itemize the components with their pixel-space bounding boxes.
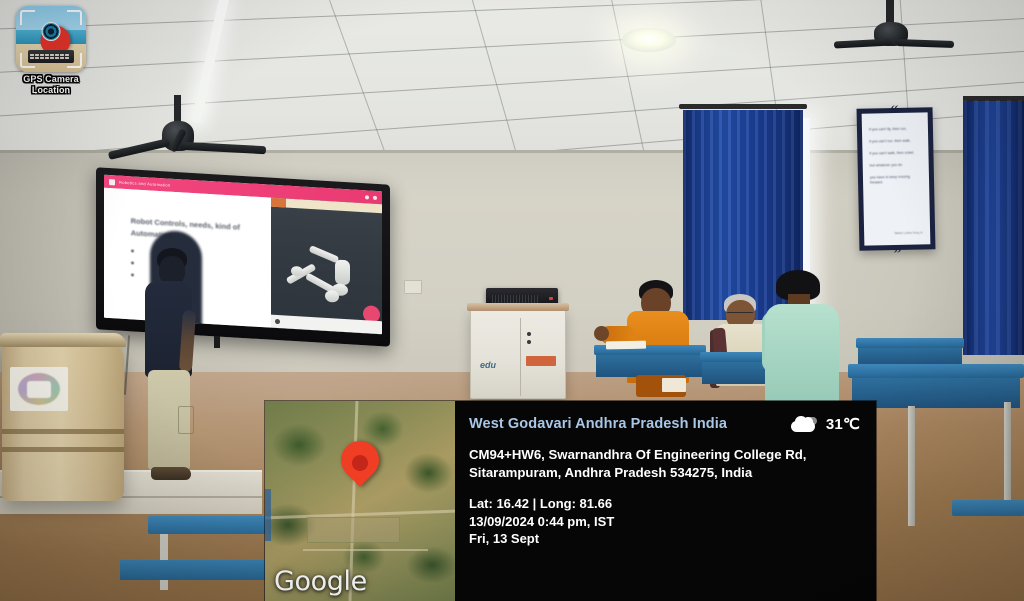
map-thumbnail[interactable]: Google [265, 401, 455, 601]
podium-band [2, 447, 124, 452]
amp-grill [492, 295, 538, 303]
quote-open-icon: “ [890, 104, 898, 120]
seated-man-mint-body [765, 304, 839, 410]
desk-skirt [596, 355, 704, 377]
robotic-arm-image [282, 235, 371, 316]
gps-info-panel: West Godavari Andhra Pradesh India 31℃ C… [455, 401, 876, 601]
google-watermark: Google [274, 567, 367, 597]
podium-top [0, 333, 126, 347]
quote-line: if you can't walk, then crawl, [869, 150, 921, 156]
gps-camera-app-logo[interactable]: GPS Camera Location [12, 6, 90, 98]
weather-block: 31℃ [791, 415, 860, 433]
presenter-standing [139, 248, 201, 498]
desk-leg [908, 406, 915, 526]
app-menu-icon [109, 179, 115, 185]
coordinates-line: Lat: 16.42 | Long: 81.66 [469, 495, 860, 513]
video-panel [271, 198, 382, 335]
logo-camera-lens-icon [42, 22, 61, 41]
eyeglasses-icon [727, 312, 753, 318]
map-water [265, 489, 271, 541]
bench-left [148, 516, 278, 534]
bullet-dot [131, 273, 134, 276]
poster-quote-lines: If you can't fly, then run, if you can't… [869, 126, 922, 185]
paper-sheet [606, 341, 646, 350]
quote-close-icon: “ [893, 238, 901, 254]
seated-man-orange-hand [594, 326, 609, 341]
curtain-rod [963, 96, 1024, 101]
address-line-1: CM94+HW6, Swarnandhra Of Engineering Col… [469, 446, 860, 464]
presenter-pants [148, 370, 190, 470]
screenshot-root: Robotics and Automation Robot Controls, … [0, 0, 1024, 601]
viewfinder-bracket-icon [67, 53, 82, 68]
emblem-ring [18, 373, 60, 405]
desk-leg [1004, 402, 1011, 510]
desk-skirt [852, 378, 1020, 408]
ceiling-fan-right [838, 0, 958, 60]
quote-attribution: Martin Luther King Jr. [895, 230, 924, 235]
volume-icon [365, 195, 369, 199]
cabinet-door-split [520, 318, 521, 396]
map-road [303, 549, 428, 551]
cloud-icon [791, 417, 818, 432]
gps-meta-block: Lat: 16.42 | Long: 81.66 13/09/2024 0:44… [469, 495, 860, 548]
weekday-line: Fri, 13 Sept [469, 530, 860, 548]
presentation-header-title: Robotics and Automation [119, 180, 170, 188]
gps-logo-caption: GPS Camera Location [12, 74, 90, 96]
quote-line: but whatever you do [870, 162, 922, 168]
podium [2, 341, 124, 501]
viewfinder-bracket-icon [67, 10, 82, 25]
round-ceiling-light [622, 28, 676, 52]
bullet-dot [131, 261, 134, 264]
bullet-dot [131, 249, 134, 252]
gps-logo-caption-line2: Location [12, 85, 90, 96]
cabinet-knob [527, 340, 531, 344]
desk [856, 338, 964, 348]
gps-camera-pin-icon [16, 6, 86, 72]
more-options-icon [373, 195, 377, 199]
location-title: West Godavari Andhra Pradesh India [469, 416, 727, 432]
ceiling-fan-left [130, 95, 280, 165]
desk-front-right [848, 364, 1024, 378]
address-line-2: Sitarampuram, Andhra Pradesh 534275, Ind… [469, 464, 860, 482]
gps-header-row: West Godavari Andhra Pradesh India 31℃ [469, 415, 860, 433]
address-block: CM94+HW6, Swarnandhra Of Engineering Col… [469, 446, 860, 481]
slide-bullets [131, 249, 134, 285]
tv-stand [214, 336, 220, 348]
cargo-pocket [178, 406, 194, 434]
window-curtain-right [963, 100, 1024, 355]
cabinet-brand-label: edu [480, 360, 496, 370]
map-pin-center [352, 455, 368, 471]
wall-socket [404, 280, 422, 294]
equipment-cabinet: edu [470, 309, 566, 399]
podium-band [2, 429, 124, 434]
map-plot-outline [307, 517, 400, 543]
viewfinder-bracket-icon [20, 10, 35, 25]
temperature-value: 31℃ [826, 415, 860, 433]
cabinet-knob [527, 332, 531, 336]
quote-line: If you can't fly, then run, [869, 126, 921, 132]
presenter-sandal [151, 467, 191, 480]
quote-line: you have to keep moving forward. [870, 174, 922, 185]
datetime-line: 13/09/2024 0:44 pm, IST [469, 513, 860, 531]
amp-power-led [549, 297, 553, 300]
bench [952, 500, 1024, 516]
college-emblem [10, 367, 68, 411]
cabinet-orange-tag [526, 356, 556, 366]
quote-line: if you can't run, then walk, [869, 138, 921, 144]
poster-inner: “ If you can't fly, then run, if you can… [862, 112, 931, 245]
viewfinder-bracket-icon [20, 53, 35, 68]
curtain-rod [679, 104, 807, 109]
gps-stamp-overlay: Google West Godavari Andhra Pradesh Indi… [265, 401, 876, 601]
header-actions [365, 195, 377, 200]
emblem-core [27, 381, 51, 398]
framed-quote-poster: “ If you can't fly, then run, if you can… [857, 107, 936, 251]
gps-logo-caption-line1: GPS Camera [12, 74, 90, 85]
paper-in-lap [662, 378, 686, 392]
cabinet-top [467, 303, 569, 311]
